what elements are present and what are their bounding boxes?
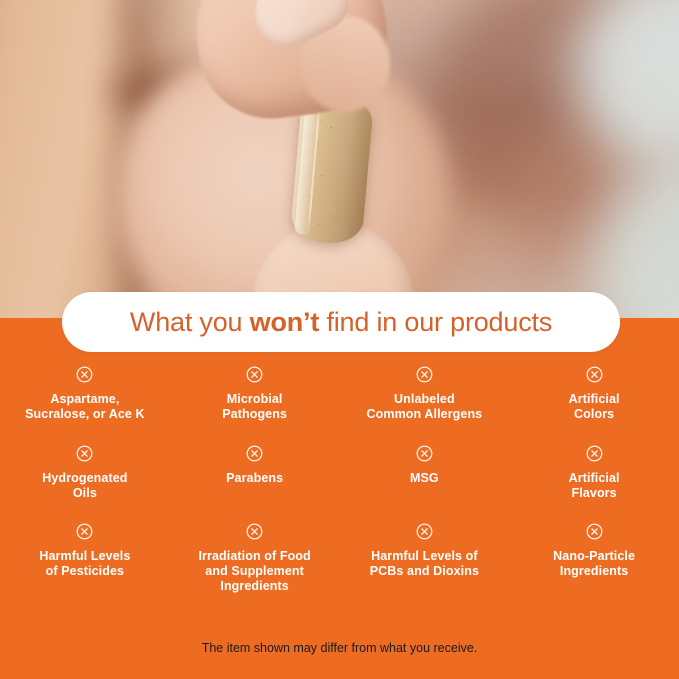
claim-item: MSG: [340, 445, 510, 523]
claim-item: Unlabeled Common Allergens: [340, 366, 510, 445]
claims-row: Harmful Levels of PesticidesIrradiation …: [0, 523, 679, 613]
circle-x-icon: [515, 523, 673, 540]
claim-item: Nano-Particle Ingredients: [509, 523, 679, 613]
circle-x-icon: [176, 523, 334, 540]
page-title: What you won’t find in our products: [130, 309, 552, 336]
product-photo: [0, 0, 679, 318]
claims-grid: Aspartame, Sucralose, or Ace KMicrobial …: [0, 366, 679, 613]
title-part-2: find in our products: [319, 307, 552, 337]
circle-x-icon: [515, 366, 673, 383]
claim-item: Harmful Levels of PCBs and Dioxins: [340, 523, 510, 613]
claim-item: Irradiation of Food and Supplement Ingre…: [170, 523, 340, 613]
circle-x-icon: [6, 523, 164, 540]
claim-item: Artificial Colors: [509, 366, 679, 445]
claim-item: Artificial Flavors: [509, 445, 679, 523]
claim-item-label: Artificial Colors: [515, 392, 673, 422]
claim-item: Parabens: [170, 445, 340, 523]
product-claims-infographic: What you won’t find in our products Aspa…: [0, 0, 679, 679]
claim-item: Hydrogenated Oils: [0, 445, 170, 523]
claim-item-label: Artificial Flavors: [515, 471, 673, 501]
headline-pill: What you won’t find in our products: [62, 292, 620, 352]
claim-item-label: Harmful Levels of Pesticides: [6, 549, 164, 579]
circle-x-icon: [176, 366, 334, 383]
claims-row: Hydrogenated OilsParabensMSGArtificial F…: [0, 445, 679, 523]
claim-item-label: MSG: [346, 471, 504, 486]
circle-x-icon: [515, 445, 673, 462]
circle-x-icon: [346, 445, 504, 462]
circle-x-icon: [346, 366, 504, 383]
claim-item-label: Parabens: [176, 471, 334, 486]
claim-item-label: Hydrogenated Oils: [6, 471, 164, 501]
claim-item: Harmful Levels of Pesticides: [0, 523, 170, 613]
claim-item: Microbial Pathogens: [170, 366, 340, 445]
circle-x-icon: [6, 445, 164, 462]
title-emphasis: won’t: [250, 307, 319, 337]
claim-item-label: Harmful Levels of PCBs and Dioxins: [346, 549, 504, 579]
circle-x-icon: [6, 366, 164, 383]
disclaimer-note: The item shown may differ from what you …: [0, 640, 679, 656]
circle-x-icon: [176, 445, 334, 462]
circle-x-icon: [346, 523, 504, 540]
claim-item-label: Irradiation of Food and Supplement Ingre…: [176, 549, 334, 594]
claim-item-label: Aspartame, Sucralose, or Ace K: [6, 392, 164, 422]
title-part-1: What you: [130, 307, 250, 337]
claim-item-label: Nano-Particle Ingredients: [515, 549, 673, 579]
claims-row: Aspartame, Sucralose, or Ace KMicrobial …: [0, 366, 679, 445]
claim-item-label: Microbial Pathogens: [176, 392, 334, 422]
claim-item-label: Unlabeled Common Allergens: [346, 392, 504, 422]
claim-item: Aspartame, Sucralose, or Ace K: [0, 366, 170, 445]
